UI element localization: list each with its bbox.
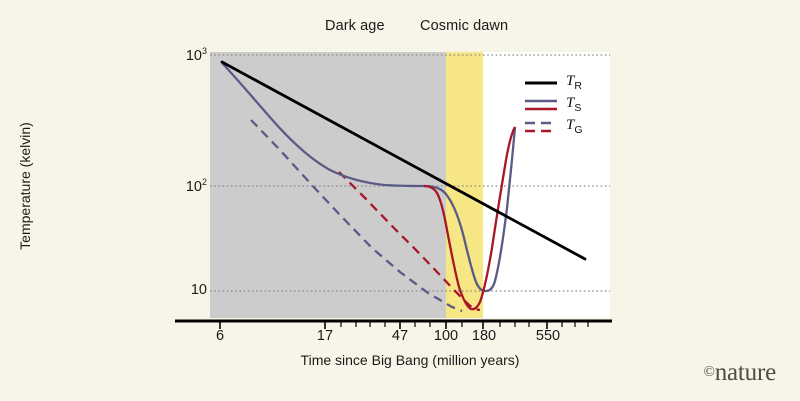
x-axis-label: Time since Big Bang (million years) [210, 352, 610, 368]
legend-label-ts: TS [566, 95, 581, 114]
x-tick-180: 180 [472, 328, 496, 344]
copyright-icon: © [704, 364, 715, 380]
legend-key-solid-purple-red [524, 94, 558, 116]
legend-item-tg: TG [524, 116, 596, 138]
legend-key-solid-black [524, 72, 558, 94]
x-tick-6: 6 [216, 328, 224, 344]
legend-item-tr: TR [524, 72, 596, 94]
x-tick-47: 47 [392, 328, 408, 344]
y-tick-1000: 103 [186, 46, 207, 64]
x-tick-17: 17 [317, 328, 333, 344]
annotation-dark-age: Dark age [325, 18, 385, 34]
legend-label-tr: TR [566, 73, 582, 92]
y-axis-label: Temperature (kelvin) [17, 86, 33, 286]
legend-key-dashed-purple-red [524, 116, 558, 138]
y-axis-ticks: 103 102 10 [165, 0, 207, 401]
x-tick-100: 100 [434, 328, 458, 344]
nature-wordmark: nature [715, 359, 776, 386]
nature-credit: ©nature [704, 359, 776, 387]
annotation-cosmic-dawn: Cosmic dawn [420, 18, 508, 34]
legend-label-tg: TG [566, 117, 583, 136]
chart-legend: TR TS TG [524, 72, 596, 138]
x-tick-550: 550 [536, 328, 560, 344]
y-tick-100: 102 [186, 177, 207, 195]
legend-item-ts: TS [524, 94, 596, 116]
y-tick-10: 10 [191, 282, 207, 298]
nature-figure: Dark age Cosmic dawn 103 102 10 Temperat… [0, 0, 800, 401]
